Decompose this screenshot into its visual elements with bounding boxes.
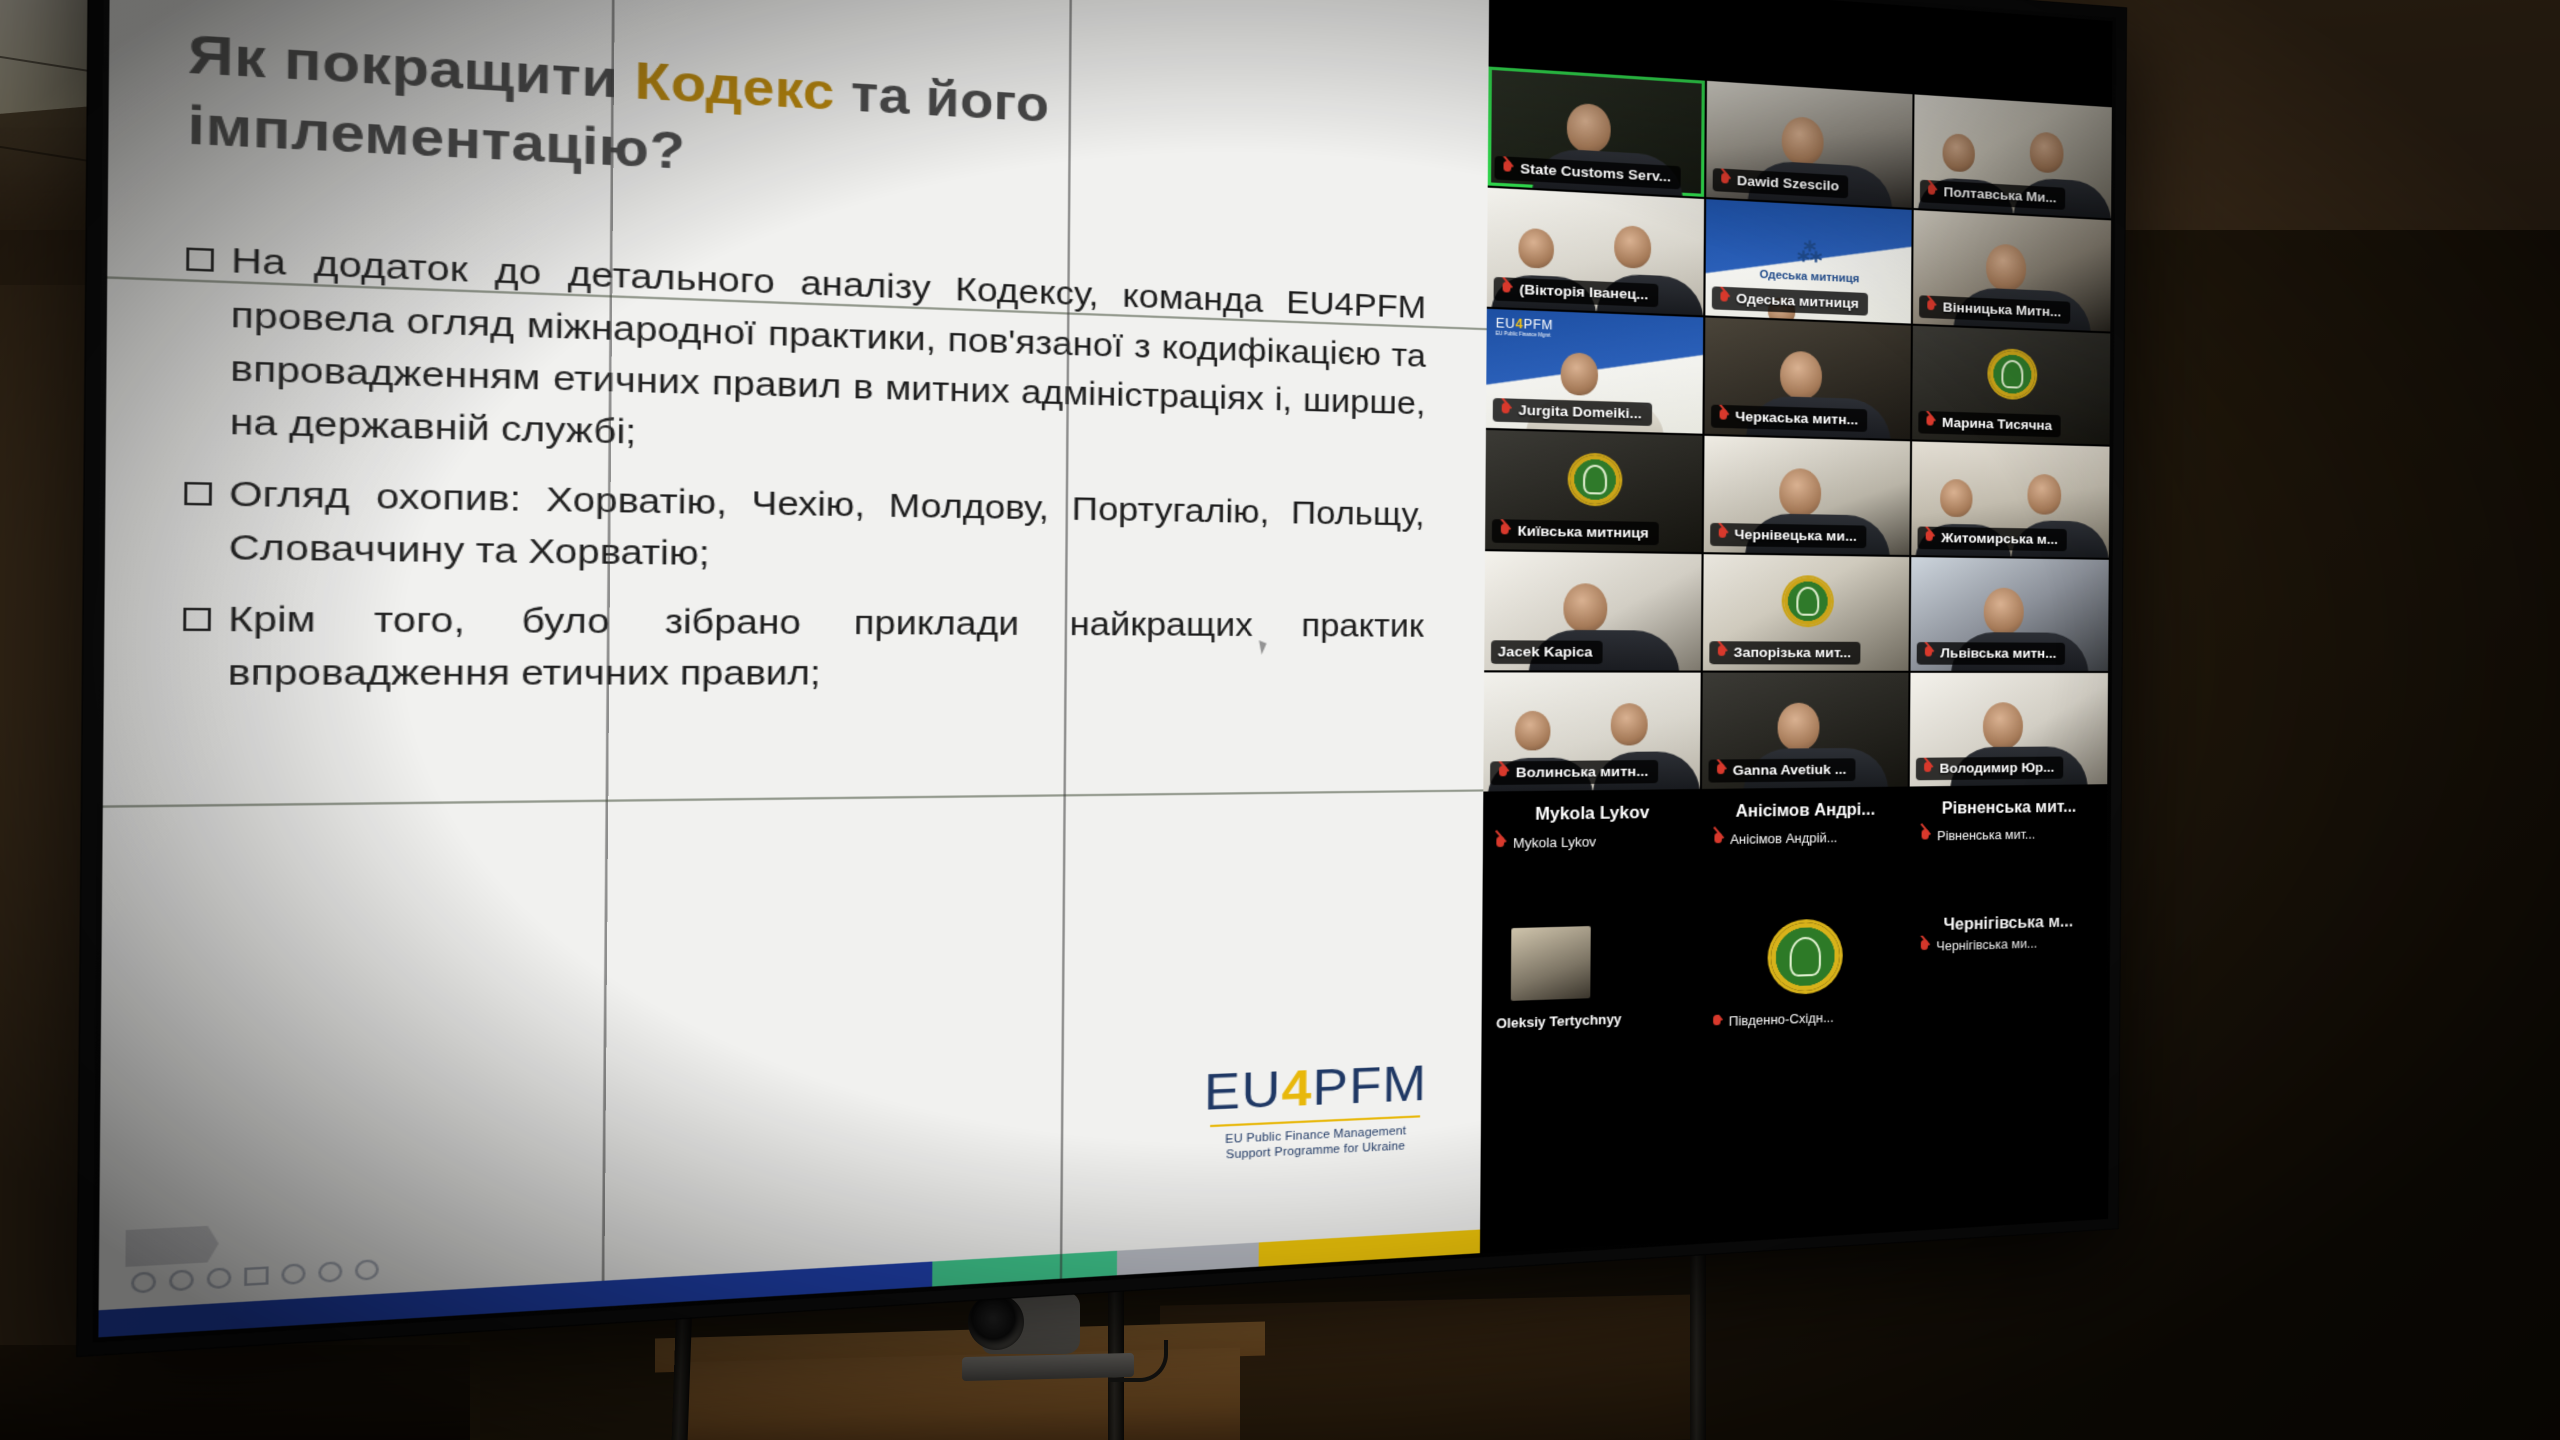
- muted-microphone-icon: [1925, 415, 1936, 430]
- logo-subtitle: EU Public Finance Management Support Pro…: [1203, 1122, 1427, 1164]
- display-screen: Як покращити Кодекс та його імплементаці…: [98, 0, 2112, 1337]
- participant-head: [1567, 102, 1611, 153]
- odesa-customs-caption: Одеська митниця: [1759, 269, 1859, 286]
- presentation-slide[interactable]: Як покращити Кодекс та його імплементаці…: [98, 0, 1489, 1337]
- logo-suffix: PFM: [1312, 1054, 1427, 1115]
- audio-participant[interactable]: Південно-Східн...: [1700, 914, 1907, 1035]
- audio-participant-name-text: Mykola Lykov: [1513, 835, 1596, 851]
- customs-emblem-icon: [1570, 455, 1621, 505]
- participant-tile[interactable]: (Вікторія Іванец...: [1487, 188, 1704, 316]
- participant-name-text: Jurgita Domeiki...: [1518, 402, 1642, 421]
- slide-grid-button[interactable]: [244, 1266, 268, 1286]
- muted-microphone-icon: [1717, 408, 1729, 423]
- muted-microphone-icon: [1711, 1015, 1723, 1030]
- muted-microphone-icon: [1922, 761, 1933, 775]
- audio-participant-name: Mykola Lykov: [1483, 823, 1699, 852]
- participant-name-label: Волинська митн...: [1490, 760, 1658, 785]
- eu4pfm-logo: EU4PFM EU Public Finance Management Supp…: [1203, 1053, 1427, 1164]
- muted-microphone-icon: [1924, 530, 1935, 544]
- zoom-button[interactable]: [281, 1263, 305, 1285]
- participant-name-label: Ganna Avetiuk ...: [1708, 758, 1856, 782]
- participant-name-label: Володимир Юр...: [1916, 757, 2063, 781]
- participant-name-label: Jurgita Domeiki...: [1493, 398, 1652, 426]
- muted-microphone-icon: [1926, 299, 1937, 314]
- participant-name-text: (Вікторія Іванец...: [1519, 281, 1648, 302]
- participant-head: [1942, 132, 1975, 172]
- slide-bullet-text: Огляд охопив: Хорватію, Чехію, Молдову, …: [228, 468, 1424, 588]
- participant-name-text: Полтавська Ми...: [1944, 184, 2057, 205]
- logo-wordmark: EU4PFM: [1204, 1053, 1428, 1121]
- muted-microphone-icon: [1718, 290, 1730, 305]
- muted-microphone-icon: [1919, 940, 1930, 955]
- audio-participant[interactable]: Mykola LykovMykola Lykov: [1483, 799, 1700, 913]
- participant-tile[interactable]: Володимир Юр...: [1910, 673, 2108, 787]
- participant-tile[interactable]: Dawid Szescilo: [1706, 81, 1913, 208]
- eu4pfm-virtual-background-logo: EU4PFMEU Public Finance Mgmt: [1496, 316, 1554, 338]
- participant-name-label: Марина Тисячна: [1919, 411, 2061, 437]
- slide-bullet-text: Крім того, було зібрано приклади найкращ…: [227, 593, 1424, 701]
- participant-head: [1982, 702, 2022, 749]
- audio-participant-name-text: Анісімов Андрій...: [1730, 831, 1837, 847]
- participant-head: [1940, 478, 1973, 516]
- logo-four: 4: [1281, 1059, 1312, 1117]
- participant-name-text: Черкаська митн...: [1735, 408, 1858, 427]
- participant-name-text: Jacek Kapica: [1498, 644, 1593, 660]
- muted-microphone-icon: [1712, 833, 1724, 848]
- participant-name-text: Чернівецька ми...: [1734, 526, 1856, 544]
- slide-title: Як покращити Кодекс та його імплементаці…: [187, 20, 1187, 210]
- logo-prefix: EU: [1204, 1060, 1282, 1121]
- video-wall-display: Як покращити Кодекс та його імплементаці…: [78, 0, 2127, 1356]
- slide-title-highlight: Кодекс: [635, 53, 835, 121]
- customs-emblem-icon: [1770, 922, 1839, 993]
- participant-head: [1779, 468, 1821, 517]
- audio-participant-header: Рівненська мит...: [1910, 794, 2107, 819]
- participant-name-text: Волинська митн...: [1516, 763, 1649, 780]
- slideshow-tooltip: [125, 1225, 218, 1267]
- conference-room-scene: Як покращити Кодекс та його імплементаці…: [0, 0, 2560, 1440]
- participant-name-text: Київська митниця: [1518, 523, 1649, 541]
- customs-emblem-icon: [1989, 350, 2035, 398]
- participant-name-label: Запорізька мит...: [1709, 641, 1861, 664]
- muted-microphone-icon: [1501, 160, 1513, 176]
- slide-bullet-text: На додаток до детального аналізу Кодексу…: [230, 235, 1427, 477]
- audio-participant-name-text: Чернігівська ми...: [1936, 936, 2037, 953]
- participant-head: [1515, 710, 1551, 750]
- audio-participant-name-text: Рівненська мит...: [1937, 827, 2035, 843]
- participant-head: [1985, 243, 2025, 291]
- participant-name-label: Jacek Kapica: [1491, 640, 1602, 664]
- participant-head: [1614, 225, 1651, 269]
- participant-name-text: Марина Тисячна: [1942, 415, 2052, 433]
- participant-head: [1780, 350, 1822, 399]
- bullet-square-icon: [184, 482, 212, 506]
- participant-name-label: Одеська митниця: [1712, 286, 1869, 315]
- muted-microphone-icon: [1716, 527, 1728, 542]
- participant-tile[interactable]: Житомирська м...: [1912, 441, 2110, 557]
- audio-participant-header: Mykola Lykov: [1483, 799, 1699, 825]
- participant-tile[interactable]: State Customs Serv...: [1488, 67, 1705, 197]
- participant-head: [1983, 587, 2023, 634]
- participant-tile[interactable]: Вінницька Митн...: [1913, 210, 2111, 331]
- ukraine-trident-icon: ⁂: [1797, 238, 1822, 269]
- participant-name-text: Житомирська м...: [1941, 530, 2058, 547]
- audio-participant-header: Анісімов Андрі...: [1701, 797, 1908, 823]
- audio-participant[interactable]: Чернігівська м...Чернігівська ми...: [1908, 908, 2106, 1026]
- muted-microphone-icon: [1500, 402, 1512, 417]
- zoom-gallery-panel[interactable]: State Customs Serv...Dawid SzesciloПолта…: [1480, 0, 2112, 1253]
- participant-name-text: Запорізька мит...: [1733, 644, 1851, 660]
- side-cabinet: [1160, 1294, 1700, 1440]
- audio-participant-name: Oleksiy Tertychnyy: [1488, 1010, 1629, 1034]
- panel-seam: [103, 789, 1484, 807]
- participant-tile[interactable]: Чернівецька ми...: [1703, 436, 1910, 555]
- participant-head: [1518, 227, 1554, 268]
- audio-participant-name-text: Південно-Східн...: [1729, 1011, 1834, 1029]
- next-slide-button[interactable]: [355, 1259, 379, 1281]
- previous-slide-button[interactable]: [131, 1271, 156, 1293]
- participant-tile[interactable]: Марина Тисячна: [1912, 326, 2110, 445]
- muted-microphone-icon: [1494, 836, 1506, 851]
- muted-microphone-icon: [1500, 281, 1512, 296]
- participant-tile[interactable]: Полтавська Ми...: [1914, 94, 2112, 218]
- participant-name-text: State Customs Serv...: [1520, 161, 1671, 185]
- muted-microphone-icon: [1715, 763, 1727, 778]
- participant-name-text: Львівська митн...: [1940, 645, 2056, 661]
- participant-name-label: Київська митниця: [1492, 519, 1659, 545]
- participant-head: [1610, 703, 1647, 745]
- muted-microphone-icon: [1497, 765, 1509, 780]
- bullet-square-icon: [186, 248, 214, 272]
- baseboard: [0, 1345, 470, 1440]
- participant-tile[interactable]: Київська митниця: [1485, 430, 1702, 552]
- participant-head: [1781, 116, 1823, 166]
- participant-tile[interactable]: Jacek Kapica: [1484, 551, 1701, 670]
- participant-head: [2027, 474, 2061, 515]
- muted-microphone-icon: [1923, 646, 1934, 660]
- participant-name-label: Львівська митн...: [1917, 642, 2065, 665]
- audio-participant[interactable]: Oleksiy Tertychnyy: [1482, 919, 1699, 1043]
- pointer-options-button[interactable]: [207, 1267, 232, 1289]
- participant-head: [1777, 703, 1819, 751]
- customs-emblem-icon: [1783, 578, 1831, 626]
- participant-name-text: Dawid Szescilo: [1737, 173, 1839, 194]
- audio-participants-row-2: Oleksiy TertychnyyПівденно-Східн...Черні…: [1482, 908, 2107, 1042]
- audio-participant[interactable]: Рівненська мит...Рівненська мит...: [1909, 794, 2107, 903]
- participant-tile[interactable]: Черкаська митн...: [1704, 317, 1911, 439]
- participant-name-label: Черкаська митн...: [1711, 405, 1868, 432]
- camera-lens-icon: [968, 1294, 1024, 1350]
- muted-microphone-icon: [1920, 829, 1931, 844]
- participant-name-label: Чернівецька ми...: [1710, 523, 1866, 548]
- participant-name-text: Ganna Avetiuk ...: [1733, 761, 1847, 778]
- audio-participants-row-1: Mykola LykovMykola LykovАнісімов Андрі..…: [1483, 794, 2108, 914]
- audio-participant-name: Анісімов Андрій...: [1701, 819, 1908, 847]
- participant-tile[interactable]: Ganna Avetiuk ...: [1702, 673, 1909, 789]
- slide-title-line1-b: та його: [835, 65, 1050, 133]
- pen-tool-button[interactable]: [169, 1269, 194, 1291]
- participant-head: [2030, 131, 2064, 173]
- audio-participant[interactable]: Анісімов Андрі...Анісімов Андрій...: [1701, 797, 1908, 909]
- participant-tile[interactable]: Волинська митн...: [1483, 672, 1700, 791]
- participant-name-text: Вінницька Митн...: [1943, 299, 2061, 319]
- muted-microphone-icon: [1719, 172, 1731, 187]
- participant-tile[interactable]: Львівська митн...: [1911, 557, 2109, 671]
- participant-avatar: [1511, 926, 1591, 1001]
- muted-microphone-icon: [1499, 523, 1511, 538]
- audio-participant-name: Південно-Східн...: [1711, 1011, 1834, 1030]
- slide-bullet: Крім того, було зібрано приклади найкращ…: [183, 592, 1424, 700]
- participant-tile[interactable]: ⁂Одеська митницяОдеська митниця: [1705, 199, 1912, 323]
- participant-name-text: Одеська митниця: [1736, 291, 1859, 312]
- participant-tile[interactable]: Запорізька мит...: [1703, 554, 1910, 671]
- slide-bullet: Огляд охопив: Хорватію, Чехію, Молдову, …: [184, 467, 1425, 588]
- muted-microphone-icon: [1926, 184, 1937, 199]
- muted-microphone-icon: [1715, 645, 1727, 660]
- participant-grid: State Customs Serv...Dawid SzesciloПолта…: [1483, 67, 2111, 792]
- participant-head: [1564, 583, 1608, 632]
- participant-tile[interactable]: EU4PFMEU Public Finance MgmtJurgita Dome…: [1486, 309, 1703, 434]
- audio-participant-name: Рівненська мит...: [1910, 816, 2107, 844]
- slide-bullet: На додаток до детального аналізу Кодексу…: [185, 233, 1427, 477]
- bullet-square-icon: [183, 607, 211, 630]
- participant-head: [1561, 352, 1599, 396]
- participant-name-label: Житомирська м...: [1918, 526, 2067, 551]
- participant-name-text: Володимир Юр...: [1940, 760, 2055, 776]
- more-options-button[interactable]: [318, 1261, 342, 1283]
